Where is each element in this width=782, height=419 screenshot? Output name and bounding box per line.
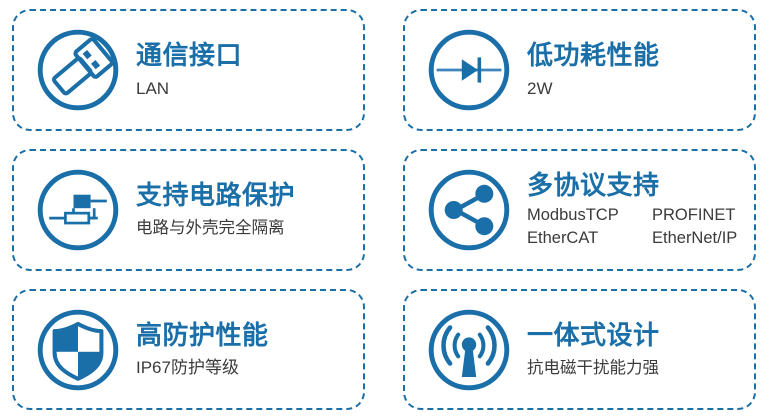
- card-title: 多协议支持: [527, 170, 754, 201]
- card-slot-circuit-protection: 支持电路保护 电路与外壳完全隔离: [0, 140, 391, 280]
- card-text-multi-protocol: 多协议支持 ModbusTCP PROFINET EtherCAT EtherN…: [515, 170, 754, 251]
- card-text-integrated-design: 一体式设计 抗电磁干扰能力强: [515, 320, 754, 379]
- card-title: 低功耗性能: [527, 40, 754, 71]
- card-title: 高防护性能: [136, 320, 363, 351]
- protocol-list: ModbusTCP PROFINET EtherCAT EtherNet/IP: [527, 205, 754, 250]
- card-title: 支持电路保护: [136, 180, 363, 211]
- card-text-high-protection: 高防护性能 IP67防护等级: [124, 320, 363, 380]
- card-slot-integrated-design: 一体式设计 抗电磁干扰能力强: [391, 280, 782, 419]
- protocol-item: EtherNet/IP: [652, 228, 754, 250]
- feature-card-high-protection[interactable]: 高防护性能 IP67防护等级: [12, 289, 365, 410]
- card-slot-multi-protocol: 多协议支持 ModbusTCP PROFINET EtherCAT EtherN…: [391, 140, 782, 280]
- card-subtitle: LAN: [136, 78, 363, 100]
- protocol-item: PROFINET: [652, 205, 754, 227]
- feature-card-communication-interface[interactable]: 通信接口 LAN: [12, 9, 365, 131]
- card-slot-low-power: 低功耗性能 2W: [391, 0, 782, 140]
- card-text-circuit-protection: 支持电路保护 电路与外壳完全隔离: [124, 180, 363, 239]
- card-subtitle: IP67防护等级: [136, 357, 363, 379]
- feature-card-low-power[interactable]: 低功耗性能 2W: [403, 9, 756, 131]
- card-subtitle: 电路与外壳完全隔离: [136, 218, 363, 239]
- card-text-communication-interface: 通信接口 LAN: [124, 40, 363, 100]
- card-slot-communication-interface: 通信接口 LAN: [0, 0, 391, 140]
- protocol-item: ModbusTCP: [527, 205, 652, 227]
- diode-icon: [423, 24, 515, 116]
- card-text-low-power: 低功耗性能 2W: [515, 40, 754, 100]
- circuit-resistor-icon: [32, 164, 124, 256]
- card-subtitle: 2W: [527, 78, 754, 100]
- feature-card-grid: 通信接口 LAN 低功耗性能 2W: [0, 0, 782, 419]
- feature-card-circuit-protection[interactable]: 支持电路保护 电路与外壳完全隔离: [12, 149, 365, 271]
- shield-icon: [32, 304, 124, 396]
- protocol-item: EtherCAT: [527, 228, 652, 250]
- card-subtitle: 抗电磁干扰能力强: [527, 358, 754, 379]
- share-nodes-icon: [423, 164, 515, 256]
- card-slot-high-protection: 高防护性能 IP67防护等级: [0, 280, 391, 419]
- feature-card-multi-protocol[interactable]: 多协议支持 ModbusTCP PROFINET EtherCAT EtherN…: [403, 149, 756, 271]
- card-title: 通信接口: [136, 40, 363, 71]
- card-title: 一体式设计: [527, 320, 754, 351]
- antenna-signal-icon: [423, 304, 515, 396]
- usb-drive-icon: [32, 24, 124, 116]
- feature-card-integrated-design[interactable]: 一体式设计 抗电磁干扰能力强: [403, 289, 756, 410]
